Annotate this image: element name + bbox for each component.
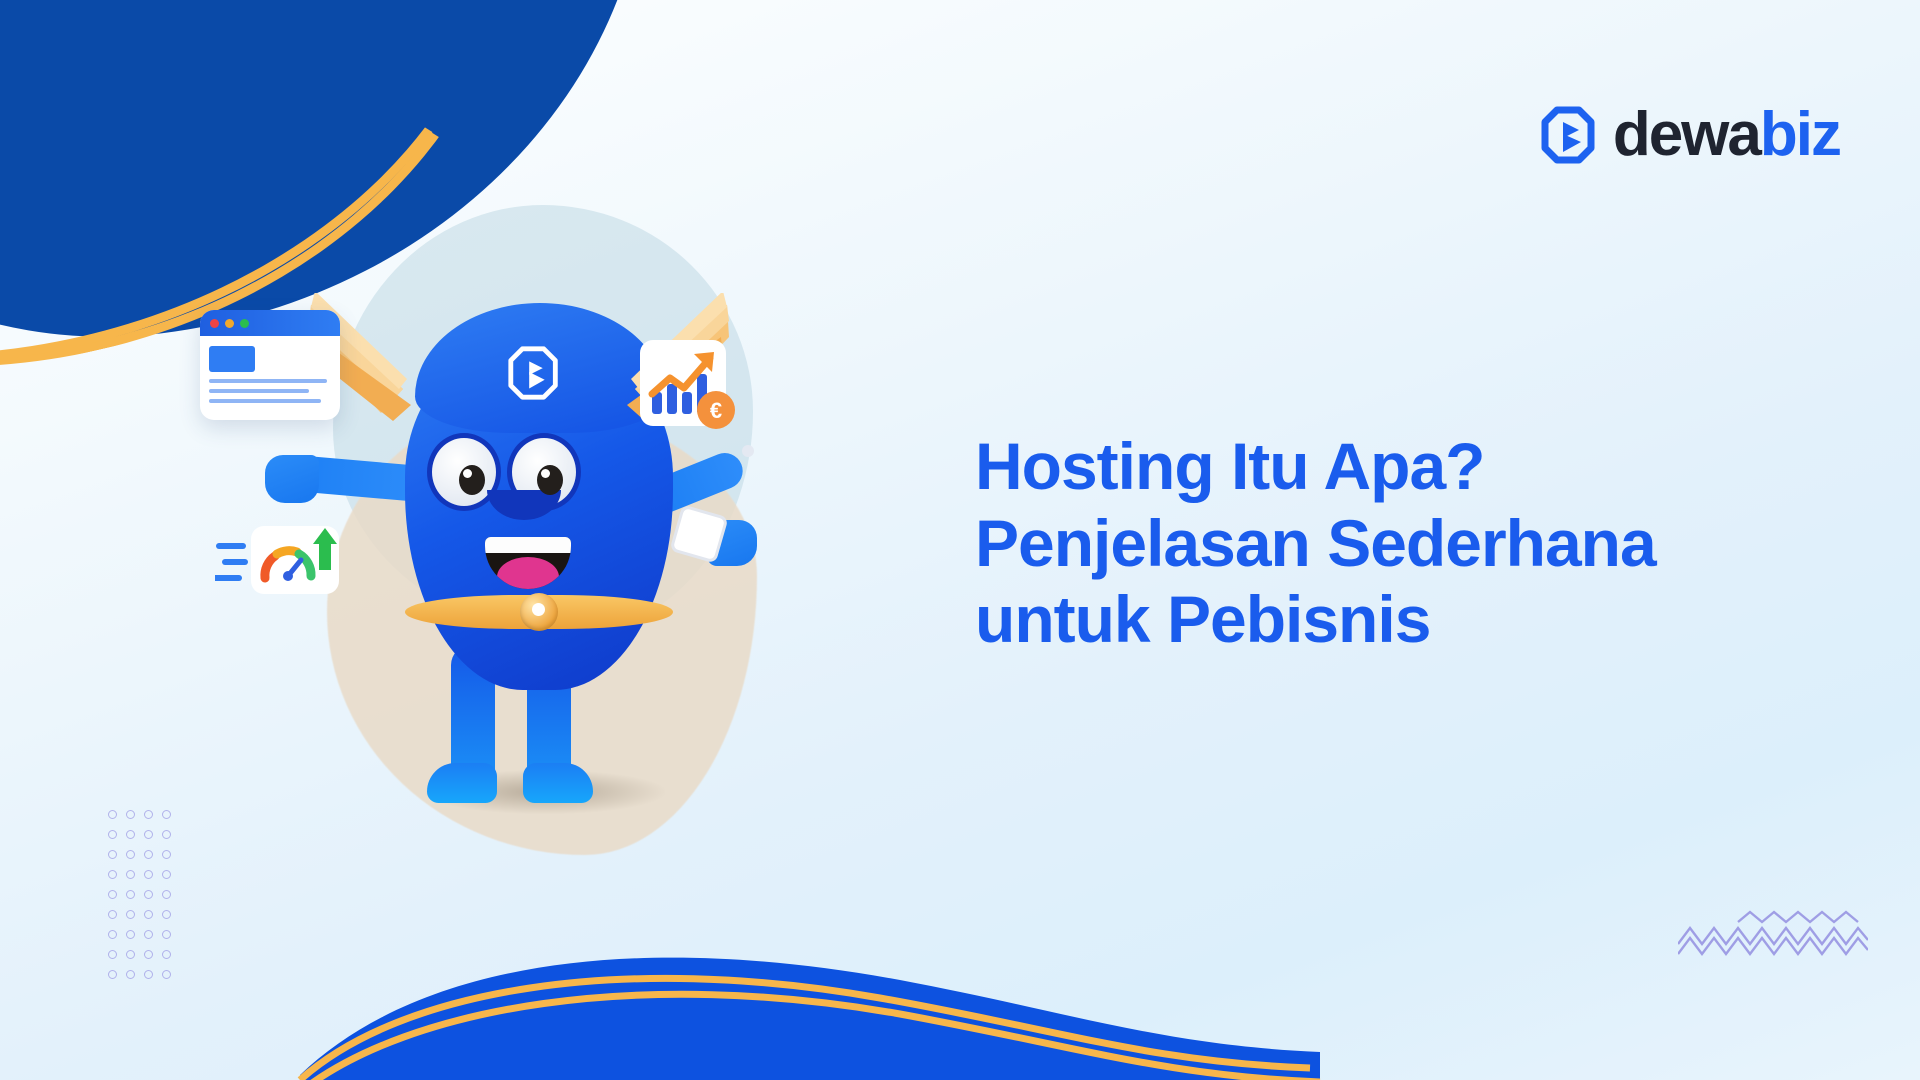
brand-wordmark: dewabiz — [1613, 104, 1840, 166]
grid-dot — [108, 850, 117, 859]
brand-logo[interactable]: dewabiz — [1541, 104, 1840, 166]
grid-dot — [108, 930, 117, 939]
grid-dot — [108, 910, 117, 919]
browser-dot-yellow — [225, 319, 234, 328]
zigzag-decoration — [1678, 910, 1868, 960]
growth-chart-icon: € — [640, 340, 740, 440]
grid-dot — [162, 830, 171, 839]
grid-dot — [126, 830, 135, 839]
grid-dot — [126, 910, 135, 919]
grid-dot — [144, 810, 153, 819]
grid-dot — [144, 950, 153, 959]
grid-dot — [144, 970, 153, 979]
banner-canvas: dewabiz — [0, 0, 1920, 1080]
browser-text-line — [209, 389, 309, 393]
browser-dot-red — [210, 319, 219, 328]
browser-content — [200, 336, 340, 419]
grid-dot — [162, 810, 171, 819]
browser-thumbnail — [209, 346, 255, 372]
grid-dot — [144, 930, 153, 939]
grid-dot — [126, 890, 135, 899]
brand-name-biz: biz — [1760, 100, 1840, 169]
grid-dot — [162, 970, 171, 979]
mascot-eye-shine-left — [463, 469, 472, 478]
brand-name-dewa: dewa — [1613, 100, 1760, 169]
grid-dot — [144, 870, 153, 879]
mascot-illustration: € — [255, 215, 855, 855]
grid-dot — [144, 850, 153, 859]
grid-dot — [162, 850, 171, 859]
mascot-pupil-right — [537, 465, 563, 495]
grid-dot — [144, 910, 153, 919]
page-title-line-1: Hosting Itu Apa? — [975, 428, 1875, 505]
mascot-hand-left-pointing — [265, 455, 319, 503]
grid-dot — [108, 830, 117, 839]
grid-dot — [126, 810, 135, 819]
mascot-teeth — [485, 537, 571, 553]
mascot-belt-buckle-gem — [532, 603, 545, 616]
grid-dot — [126, 870, 135, 879]
grid-dot — [126, 850, 135, 859]
page-title-line-3: untuk Pebisnis — [975, 581, 1875, 658]
grid-dot — [108, 890, 117, 899]
grid-dot — [126, 950, 135, 959]
grid-dot — [162, 950, 171, 959]
browser-text-line — [209, 399, 321, 403]
grid-dot — [144, 890, 153, 899]
dewabiz-hexagon-icon — [1541, 104, 1599, 166]
grid-dot — [162, 890, 171, 899]
page-title-line-2: Penjelasan Sederhana — [975, 505, 1875, 582]
page-title: Hosting Itu Apa? Penjelasan Sederhana un… — [975, 428, 1875, 658]
grid-dot — [162, 870, 171, 879]
mascot-helmet-dewabiz-icon — [505, 343, 565, 403]
mascot-eye-shine-right — [541, 469, 550, 478]
grid-dot — [108, 810, 117, 819]
grid-dot — [144, 830, 153, 839]
grid-dot — [108, 950, 117, 959]
grid-dot — [108, 970, 117, 979]
mascot-foot-left — [427, 763, 497, 803]
mascot-foot-right — [523, 763, 593, 803]
browser-text-line — [209, 379, 327, 383]
grid-dot — [126, 930, 135, 939]
grid-dot — [108, 870, 117, 879]
dot-grid-decoration — [108, 810, 180, 990]
bottom-wave-decoration — [0, 840, 1920, 1080]
speedometer-performance-icon — [215, 520, 345, 600]
grid-dot — [126, 970, 135, 979]
mascot-pupil-left — [459, 465, 485, 495]
svg-text:€: € — [710, 398, 722, 423]
mascot-tongue — [497, 557, 559, 589]
floating-dot-decoration — [742, 445, 754, 457]
browser-title-bar — [200, 310, 340, 336]
grid-dot — [162, 910, 171, 919]
grid-dot — [162, 930, 171, 939]
browser-dot-green — [240, 319, 249, 328]
browser-window-icon — [200, 310, 340, 420]
mascot-mouth — [485, 537, 571, 589]
